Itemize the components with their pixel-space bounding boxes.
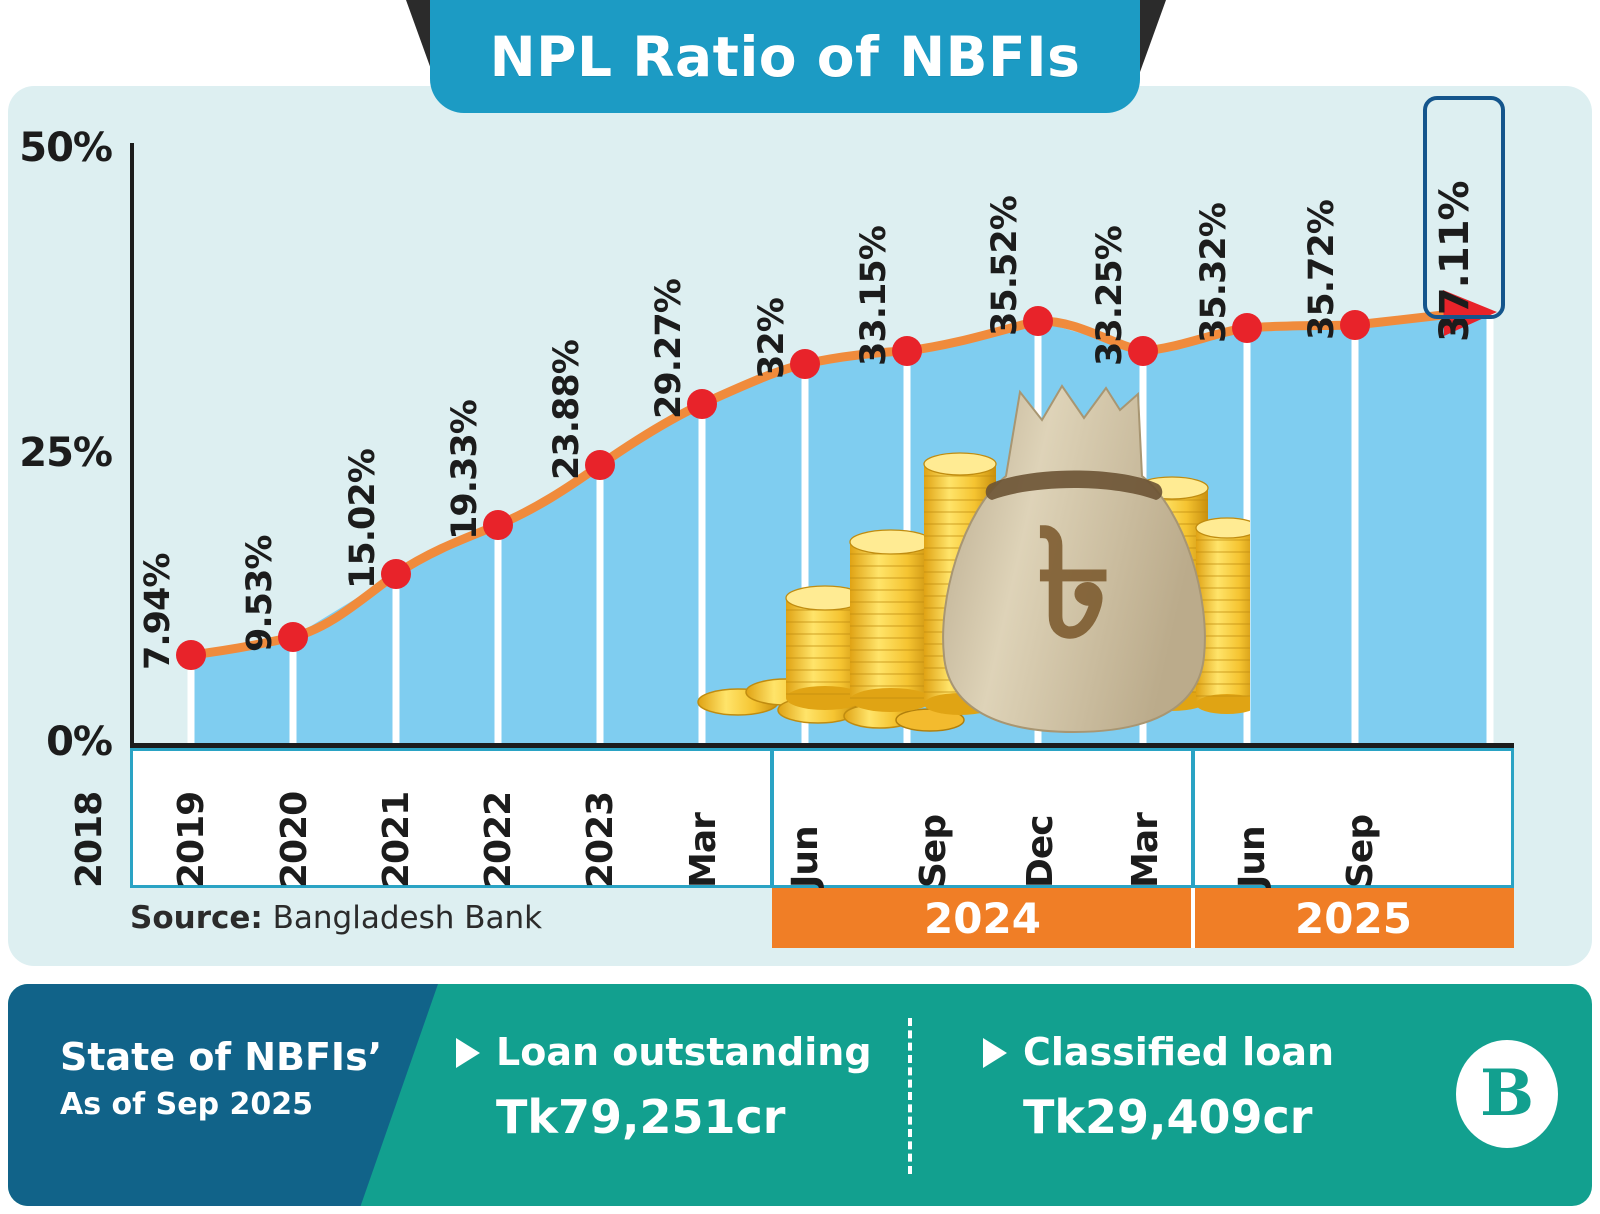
x-axis-divider-2024 [770, 748, 774, 888]
footer-bar: State of NBFIs’ As of Sep 2025 Loan outs… [8, 984, 1592, 1206]
source-note: Source: Bangladesh Bank [130, 900, 542, 936]
data-point [585, 450, 615, 480]
value-label-2025-mar: 35.32% [1194, 203, 1234, 343]
footer-stat-amount: Tk79,251cr [496, 1090, 872, 1144]
x-label-2024-jun: Jun [785, 826, 925, 888]
logo-letter: B [1480, 1062, 1534, 1126]
value-label-2018: 7.94% [138, 554, 178, 670]
triangle-bullet-icon [456, 1038, 480, 1068]
source-value: Bangladesh Bank [273, 900, 542, 936]
title-banner: NPL Ratio of NBFIs [430, 0, 1140, 113]
money-bag-illustration: ৳ [690, 380, 1250, 746]
footer-stat-amount: Tk29,409cr [1023, 1090, 1334, 1144]
data-point [1023, 306, 1053, 336]
value-label-2022: 23.88% [547, 340, 587, 480]
value-label-2024-dec: 33.25% [1090, 226, 1130, 366]
data-point [892, 336, 922, 366]
footer-stat-loan-outstanding: Loan outstanding Tk79,251cr [456, 1032, 872, 1144]
value-label-2023: 29.27% [649, 279, 689, 419]
infographic-root: NPL Ratio of NBFIs 50% 25% 0% [0, 0, 1600, 1214]
business-standard-logo: B [1456, 1040, 1558, 1148]
svg-text:৳: ৳ [1037, 498, 1112, 672]
page-title: NPL Ratio of NBFIs [430, 0, 1140, 113]
value-label-2019: 9.53% [240, 536, 280, 652]
year-band-divider [1191, 888, 1195, 948]
footer-divider [908, 1018, 912, 1174]
footer-stat-label: Classified loan [1023, 1032, 1334, 1074]
data-point [176, 640, 206, 670]
x-axis-divider-2025 [1191, 748, 1195, 888]
banner-fold-left-icon [406, 0, 432, 72]
x-label-2025-sep: Sep [1340, 815, 1480, 888]
data-point [278, 622, 308, 652]
footer-title-line2: As of Sep 2025 [60, 1086, 390, 1124]
triangle-bullet-icon [983, 1038, 1007, 1068]
year-band-2025: 2025 [1193, 888, 1514, 948]
data-point [1232, 313, 1262, 343]
footer-title-line1: State of NBFIs’ [60, 1036, 390, 1080]
value-label-2024-sep: 35.52% [985, 196, 1025, 336]
source-label: Source: [130, 900, 263, 936]
y-axis-line [130, 143, 134, 747]
data-point [483, 510, 513, 540]
data-point [381, 559, 411, 589]
money-bag-graphic: ৳ [690, 380, 1250, 746]
banner-fold-right-icon [1140, 0, 1166, 72]
latest-value-callout [1423, 96, 1505, 319]
value-label-2025-jun: 35.72% [1302, 200, 1342, 340]
footer-stat-label: Loan outstanding [496, 1032, 872, 1074]
data-point [1128, 336, 1158, 366]
value-label-2021: 19.33% [445, 400, 485, 540]
footer-title-block: State of NBFIs’ As of Sep 2025 [60, 1036, 390, 1123]
footer-stat-classified-loan: Classified loan Tk29,409cr [983, 1032, 1334, 1144]
value-label-2024-jun: 33.15% [854, 226, 894, 366]
value-label-2020: 15.02% [343, 449, 383, 589]
data-point [790, 349, 820, 379]
data-point [1340, 310, 1370, 340]
year-band-2024: 2024 [772, 888, 1193, 948]
value-label-2024-mar: 32% [752, 298, 792, 379]
